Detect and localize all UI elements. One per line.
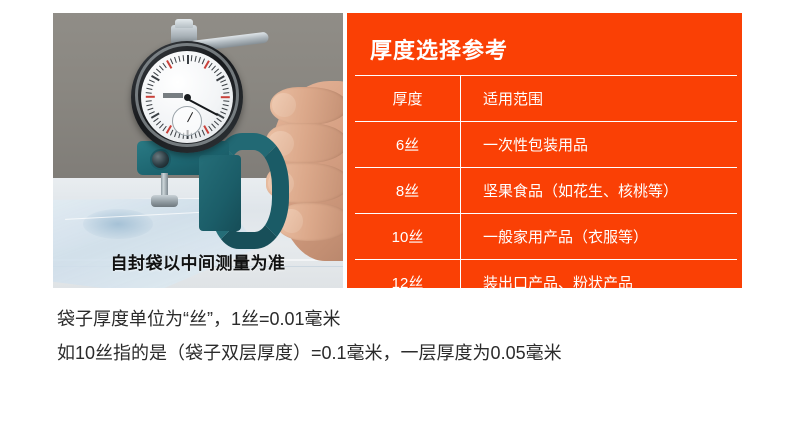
table-row: 8丝坚果食品（如花生、核桃等） xyxy=(355,168,737,214)
table-header-usage: 适用范围 xyxy=(461,76,738,122)
dial-tick xyxy=(156,69,161,74)
dial-tick xyxy=(211,123,216,128)
dial-tick xyxy=(198,131,201,137)
dial-tick xyxy=(149,79,155,82)
dial-tick xyxy=(223,104,229,106)
dial-tick xyxy=(220,79,226,82)
product-photo: 自封袋以中间测量为准 xyxy=(53,13,343,288)
dial-tick xyxy=(178,56,180,62)
dial-tick xyxy=(146,100,152,102)
dial-tick xyxy=(170,58,173,64)
table-row: 12丝装出口产品、粉状产品 xyxy=(355,260,737,306)
gauge-dial xyxy=(131,41,243,153)
dial-tick xyxy=(221,96,230,98)
dial-tick xyxy=(223,100,229,102)
table-cell-thickness-1: 8丝 xyxy=(355,168,461,214)
dial-tick xyxy=(194,56,196,62)
dial-tick xyxy=(202,58,205,64)
dial-center-hub xyxy=(184,94,191,101)
gauge-neck xyxy=(199,155,241,231)
dial-tick xyxy=(187,55,189,64)
thickness-table: 厚度适用范围6丝一次性包装用品8丝坚果食品（如花生、核桃等）10丝一般家用产品（… xyxy=(355,75,737,305)
table-cell-thickness-2: 10丝 xyxy=(355,214,461,260)
dial-tick xyxy=(149,111,155,114)
dial-tick xyxy=(162,63,166,68)
dial-brand-mark xyxy=(163,93,183,98)
dial-tick xyxy=(208,126,212,131)
gauge-anvil xyxy=(151,195,178,207)
note-line-1: 袋子厚度单位为“丝”，1丝=0.01毫米 xyxy=(57,302,757,336)
dial-subdial xyxy=(172,106,202,136)
dial-tick xyxy=(159,65,164,70)
dial-tick xyxy=(147,84,153,87)
thickness-reference-panel: 厚度选择参考 厚度适用范围6丝一次性包装用品8丝坚果食品（如花生、核桃等）10丝… xyxy=(347,13,742,288)
table-header-row: 厚度适用范围 xyxy=(355,76,737,122)
table-cell-usage-0: 一次性包装用品 xyxy=(461,122,738,168)
panel-title: 厚度选择参考 xyxy=(370,33,508,65)
dial-tick xyxy=(198,57,201,63)
dial-tick xyxy=(146,88,152,90)
dial-tick xyxy=(183,55,185,61)
table-row: 6丝一次性包装用品 xyxy=(355,122,737,168)
subdial-needle xyxy=(187,112,193,122)
table-cell-usage-3: 装出口产品、粉状产品 xyxy=(461,260,738,306)
table-cell-usage-2: 一般家用产品（衣服等） xyxy=(461,214,738,260)
dial-tick xyxy=(223,88,229,90)
dial-tick xyxy=(202,130,205,136)
dial-tick xyxy=(146,104,152,106)
page-canvas: 自封袋以中间测量为准 厚度选择参考 厚度适用范围6丝一次性包装用品8丝坚果食品（… xyxy=(0,0,790,424)
table-header-thickness: 厚度 xyxy=(355,76,461,122)
dial-tick xyxy=(222,84,228,87)
dial-tick xyxy=(214,121,219,126)
thickness-gauge-body xyxy=(137,141,269,251)
dial-tick xyxy=(191,55,193,61)
table-cell-usage-1: 坚果食品（如花生、核桃等） xyxy=(461,168,738,214)
table-cell-thickness-3: 12丝 xyxy=(355,260,461,306)
photo-caption: 自封袋以中间测量为准 xyxy=(53,249,343,274)
dial-tick xyxy=(220,111,226,114)
table-cell-thickness-0: 6丝 xyxy=(355,122,461,168)
dial-tick xyxy=(223,92,229,94)
dial-tick xyxy=(216,118,221,122)
dial-tick xyxy=(146,92,152,94)
dial-tick xyxy=(146,96,155,98)
dial-face xyxy=(141,51,233,143)
table-row: 10丝一般家用产品（衣服等） xyxy=(355,214,737,260)
dial-tick xyxy=(170,130,173,136)
fingernail-index xyxy=(272,93,296,117)
dial-tick xyxy=(222,108,228,111)
gauge-top-knob-cap xyxy=(175,19,193,28)
note-line-2: 如10丝指的是（袋子双层厚度）=0.1毫米，一层厚度为0.05毫米 xyxy=(57,336,757,370)
dial-tick xyxy=(174,57,177,63)
dial-tick xyxy=(147,108,153,111)
footer-notes: 袋子厚度单位为“丝”，1丝=0.01毫米 如10丝指的是（袋子双层厚度）=0.1… xyxy=(57,302,757,370)
